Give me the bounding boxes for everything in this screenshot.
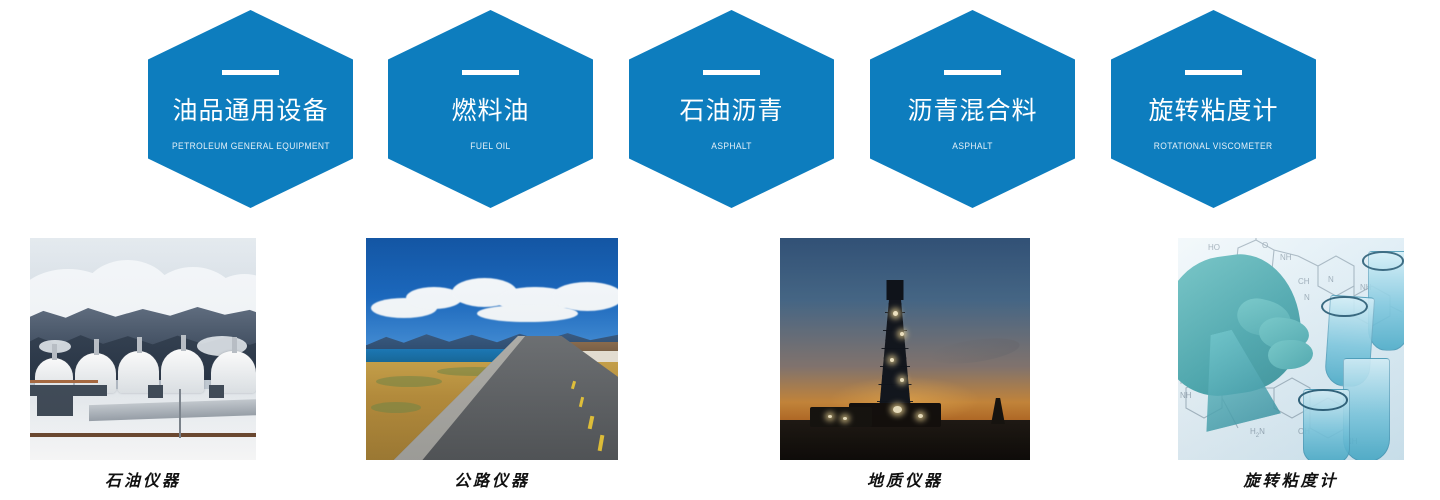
svg-text:NH: NH: [1180, 391, 1192, 400]
photo-caption: 公路仪器: [366, 472, 618, 492]
product-photo-row: 石油仪器: [0, 238, 1440, 500]
photo-drilling-rig-image: [780, 238, 1030, 460]
category-hex-asphalt-mixture[interactable]: 沥青混合料 ASPHALT: [870, 10, 1075, 208]
page-root: 油品通用设备 PETROLEUM GENERAL EQUIPMENT 燃料油 F…: [0, 0, 1440, 500]
category-subtitle: PETROLEUM GENERAL EQUIPMENT: [172, 140, 330, 152]
category-hexagon-row: 油品通用设备 PETROLEUM GENERAL EQUIPMENT 燃料油 F…: [0, 0, 1440, 215]
photo-caption: 石油仪器: [30, 472, 256, 492]
photo-card-petroleum-instruments[interactable]: 石油仪器: [30, 238, 256, 492]
category-subtitle: ASPHALT: [952, 140, 993, 152]
svg-text:O: O: [1262, 241, 1268, 250]
photo-laboratory-image: HO NH HO N NH CH N NH H2N OH NH O: [1178, 238, 1404, 460]
category-title: 油品通用设备: [172, 96, 328, 126]
category-title: 石油沥青: [679, 96, 783, 126]
category-title: 燃料油: [451, 96, 529, 126]
horizontal-dash-icon: [944, 70, 1001, 75]
category-hex-fuel-oil[interactable]: 燃料油 FUEL OIL: [388, 10, 593, 208]
photo-caption: 地质仪器: [780, 472, 1030, 492]
svg-text:HO: HO: [1208, 243, 1220, 252]
category-hex-asphalt[interactable]: 石油沥青 ASPHALT: [629, 10, 834, 208]
category-hex-rotational-viscometer[interactable]: 旋转粘度计 ROTATIONAL VISCOMETER: [1111, 10, 1316, 208]
hexagon-content: 旋转粘度计 ROTATIONAL VISCOMETER: [1111, 10, 1316, 208]
horizontal-dash-icon: [1185, 70, 1242, 75]
svg-text:H2N: H2N: [1250, 427, 1265, 439]
svg-text:NH: NH: [1280, 253, 1292, 262]
photo-caption: 旋转粘度计: [1178, 472, 1404, 492]
hexagon-content: 沥青混合料 ASPHALT: [870, 10, 1075, 208]
horizontal-dash-icon: [462, 70, 519, 75]
category-title: 旋转粘度计: [1148, 96, 1278, 126]
photo-card-rotational-viscometer[interactable]: HO NH HO N NH CH N NH H2N OH NH O: [1178, 238, 1404, 492]
svg-text:N: N: [1304, 293, 1310, 302]
category-subtitle: ROTATIONAL VISCOMETER: [1154, 140, 1273, 152]
hexagon-content: 燃料油 FUEL OIL: [388, 10, 593, 208]
category-title: 沥青混合料: [907, 96, 1037, 126]
horizontal-dash-icon: [703, 70, 760, 75]
category-hex-petroleum-general-equipment[interactable]: 油品通用设备 PETROLEUM GENERAL EQUIPMENT: [148, 10, 353, 208]
hexagon-content: 石油沥青 ASPHALT: [629, 10, 834, 208]
hexagon-content: 油品通用设备 PETROLEUM GENERAL EQUIPMENT: [148, 10, 353, 208]
photo-card-geological-instruments[interactable]: 地质仪器: [780, 238, 1030, 492]
category-subtitle: ASPHALT: [711, 140, 752, 152]
svg-text:N: N: [1328, 275, 1334, 284]
photo-highway-image: [366, 238, 618, 460]
horizontal-dash-icon: [222, 70, 279, 75]
category-subtitle: FUEL OIL: [470, 140, 510, 152]
photo-refinery-image: [30, 238, 256, 460]
photo-card-highway-instruments[interactable]: 公路仪器: [366, 238, 618, 492]
svg-text:CH: CH: [1298, 277, 1310, 286]
